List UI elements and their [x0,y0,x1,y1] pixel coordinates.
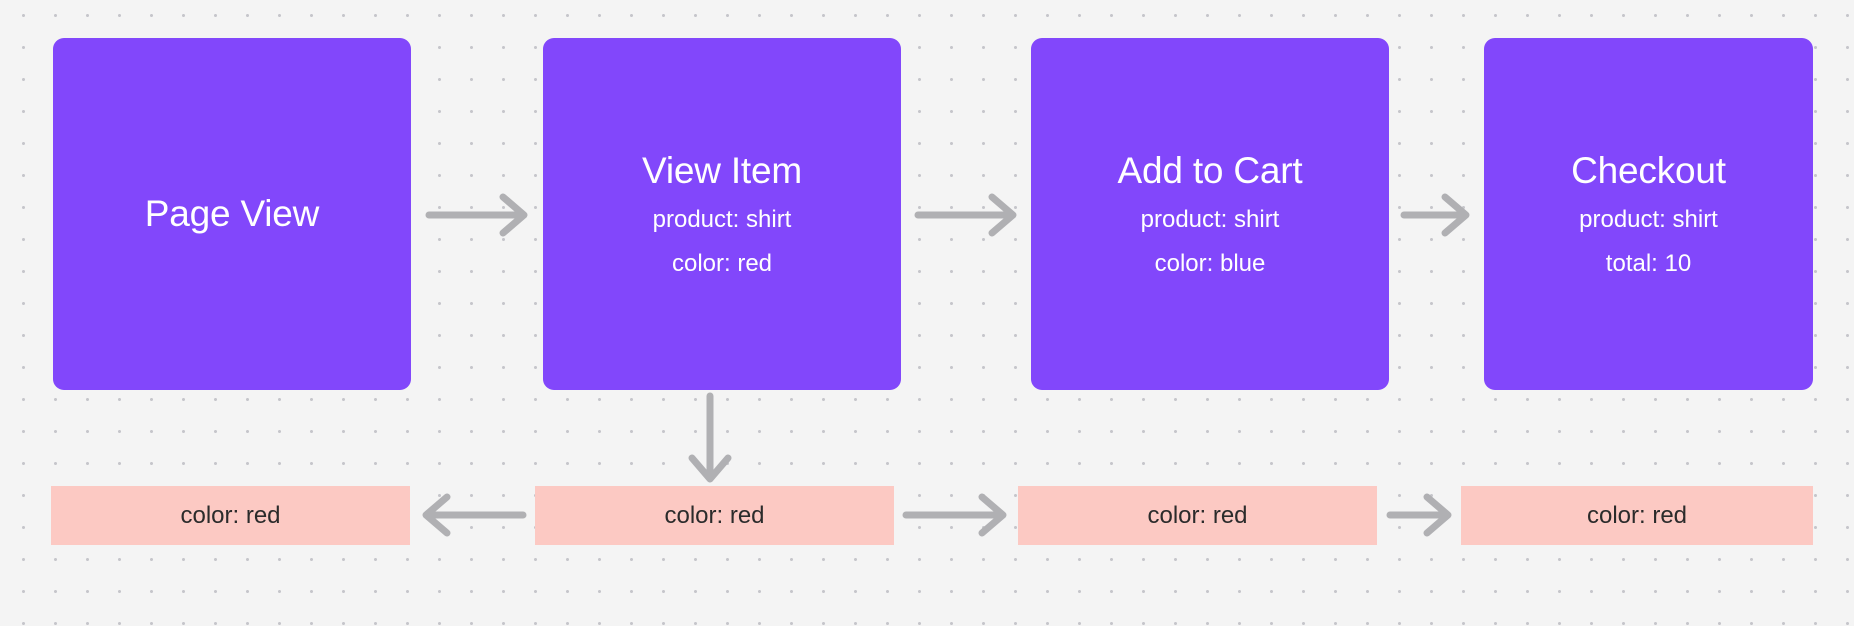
node-title: Checkout [1571,152,1726,190]
property-box-2[interactable]: color: red [535,486,894,545]
node-detail: color: red [672,252,772,276]
arrow-left-icon [419,493,527,537]
property-box-label: color: red [1587,504,1687,528]
property-box-3[interactable]: color: red [1018,486,1377,545]
connector-prop-2-to-prop-3 [902,493,1010,537]
node-detail: product: shirt [1579,208,1718,232]
arrow-right-icon [1400,193,1472,237]
arrow-down-icon [688,394,732,484]
connector-node-3-to-4 [1400,193,1472,237]
property-box-1[interactable]: color: red [51,486,410,545]
connector-view-item-to-prop-2 [688,394,732,484]
arrow-right-icon [425,193,530,237]
node-checkout[interactable]: Checkout product: shirt total: 10 [1484,38,1813,390]
node-detail: color: blue [1155,252,1266,276]
property-box-label: color: red [1147,504,1247,528]
node-view-item[interactable]: View Item product: shirt color: red [543,38,901,390]
flow-canvas[interactable]: Page View View Item product: shirt color… [0,0,1854,626]
node-add-to-cart[interactable]: Add to Cart product: shirt color: blue [1031,38,1389,390]
connector-prop-3-to-prop-4 [1386,493,1454,537]
arrow-right-icon [1386,493,1454,537]
property-box-label: color: red [180,504,280,528]
node-title: Add to Cart [1118,152,1303,190]
property-box-label: color: red [664,504,764,528]
node-title: View Item [642,152,802,190]
node-page-view[interactable]: Page View [53,38,411,390]
property-box-4[interactable]: color: red [1461,486,1813,545]
connector-prop-2-to-prop-1 [419,493,527,537]
node-detail: product: shirt [653,208,792,232]
node-title: Page View [145,195,319,233]
connector-node-2-to-3 [914,193,1019,237]
arrow-right-icon [902,493,1010,537]
node-detail: product: shirt [1141,208,1280,232]
arrow-right-icon [914,193,1019,237]
connector-node-1-to-2 [425,193,530,237]
node-detail: total: 10 [1606,252,1691,276]
